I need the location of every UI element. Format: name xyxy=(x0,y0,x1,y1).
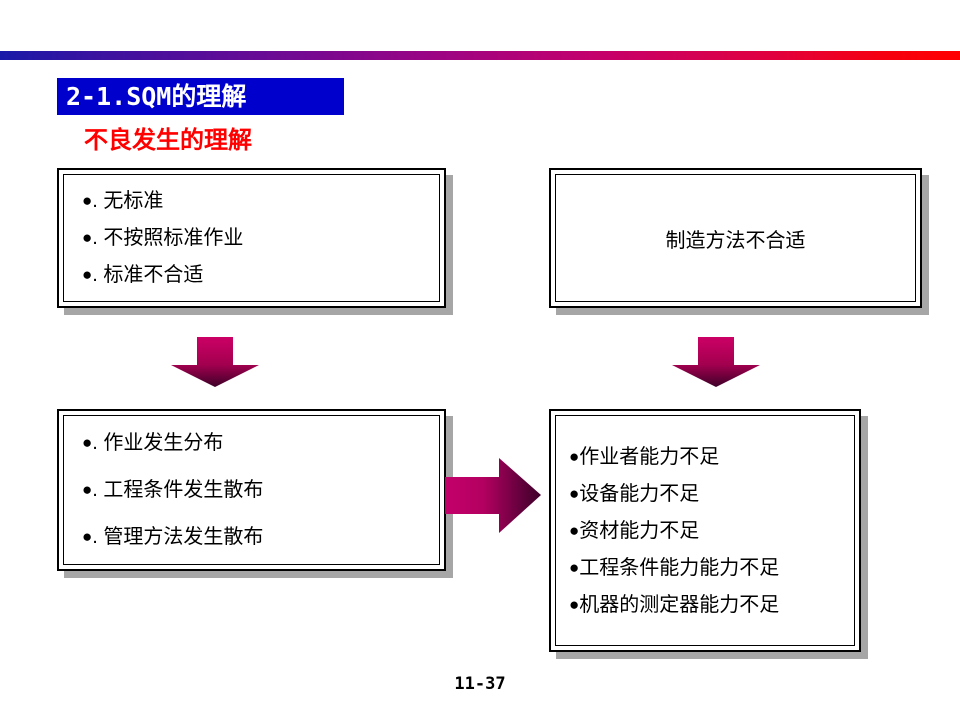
bullet-icon: ● xyxy=(82,433,92,452)
arrow-down-icon xyxy=(171,337,259,387)
list-item-label: 管理方法发生散布 xyxy=(103,526,263,548)
bullet-icon: ● xyxy=(569,447,579,466)
box-capability: ●作业者能力不足 ●设备能力不足 ●资材能力不足 ●工程条件能力能力不足 ●机器… xyxy=(549,409,861,652)
list-item: ●. 工程条件发生散布 xyxy=(64,480,439,500)
arrow-down-icon xyxy=(672,337,760,387)
box-variation: ●. 作业发生分布 ●. 工程条件发生散布 ●. 管理方法发生散布 xyxy=(57,409,446,571)
list-item-label: 机器的测定器能力不足 xyxy=(579,594,779,616)
box-capability-inner: ●作业者能力不足 ●设备能力不足 ●资材能力不足 ●工程条件能力能力不足 ●机器… xyxy=(555,415,855,646)
box-standards: ●. 无标准 ●. 不按照标准作业 ●. 标准不合适 xyxy=(57,168,446,308)
list-item: ●设备能力不足 xyxy=(556,484,854,504)
list-item: ●. 作业发生分布 xyxy=(64,433,439,453)
list-item-sep: . xyxy=(92,479,98,501)
list-item-sep: . xyxy=(92,264,98,286)
list-item: ●资材能力不足 xyxy=(556,521,854,541)
list-item-label: 工程条件能力能力不足 xyxy=(579,557,779,579)
list-item-sep: . xyxy=(92,190,98,212)
list-item-label: 设备能力不足 xyxy=(579,483,699,505)
list-item-sep: . xyxy=(92,432,98,454)
list-item: ●. 不按照标准作业 xyxy=(64,228,439,248)
slide-subtitle: 不良发生的理解 xyxy=(84,126,252,156)
box-variation-inner: ●. 作业发生分布 ●. 工程条件发生散布 ●. 管理方法发生散布 xyxy=(63,415,440,565)
list-item-label: 工程条件发生散布 xyxy=(103,479,263,501)
list-item-label: 作业者能力不足 xyxy=(579,446,719,468)
list-item: ●作业者能力不足 xyxy=(556,447,854,467)
box-method-text: 制造方法不合适 xyxy=(666,224,806,253)
arrow-right-icon xyxy=(445,458,541,533)
page-number: 11-37 xyxy=(0,674,960,694)
slide-title: 2-1.SQM的理解 xyxy=(57,78,344,115)
bullet-icon: ● xyxy=(569,521,579,540)
list-item: ●机器的测定器能力不足 xyxy=(556,595,854,615)
list-item-label: 不按照标准作业 xyxy=(103,227,243,249)
bullet-icon: ● xyxy=(569,558,579,577)
list-item: ●. 标准不合适 xyxy=(64,265,439,285)
bullet-icon: ● xyxy=(82,480,92,499)
box-method-inner: 制造方法不合适 xyxy=(555,174,916,302)
list-item-label: 作业发生分布 xyxy=(103,432,223,454)
bullet-icon: ● xyxy=(82,527,92,546)
top-gradient-rule xyxy=(0,51,960,60)
bullet-icon: ● xyxy=(569,484,579,503)
bullet-icon: ● xyxy=(569,595,579,614)
list-item: ●. 无标准 xyxy=(64,191,439,211)
list-item: ●工程条件能力能力不足 xyxy=(556,558,854,578)
bullet-icon: ● xyxy=(82,265,92,284)
list-item-label: 资材能力不足 xyxy=(579,520,699,542)
bullet-icon: ● xyxy=(82,191,92,210)
list-item-label: 标准不合适 xyxy=(103,264,203,286)
bullet-icon: ● xyxy=(82,228,92,247)
list-item-sep: . xyxy=(92,227,98,249)
list-item-label: 无标准 xyxy=(103,190,163,212)
list-item: ●. 管理方法发生散布 xyxy=(64,527,439,547)
box-standards-inner: ●. 无标准 ●. 不按照标准作业 ●. 标准不合适 xyxy=(63,174,440,302)
list-item-sep: . xyxy=(92,526,98,548)
box-method: 制造方法不合适 xyxy=(549,168,922,308)
